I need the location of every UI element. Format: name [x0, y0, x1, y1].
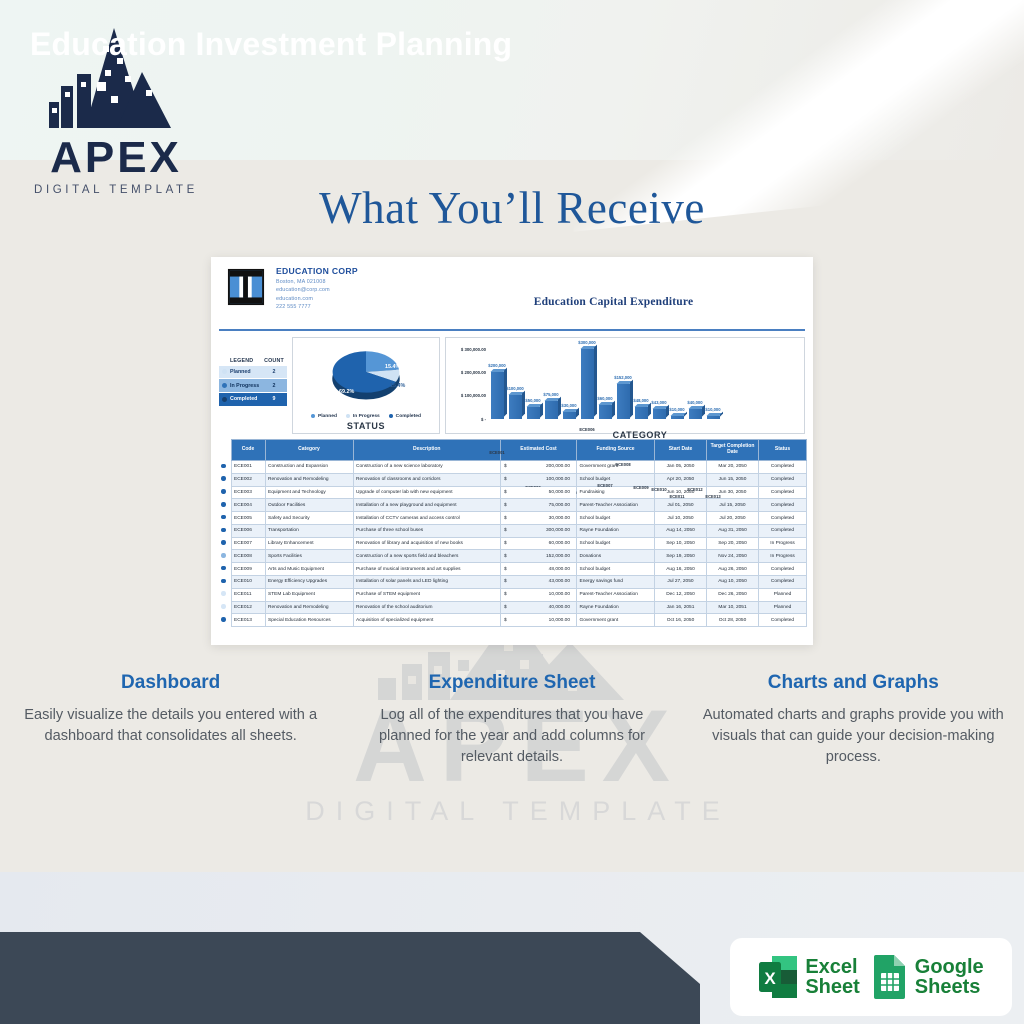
pie-value-planned: 15.4% [385, 364, 400, 370]
cell-cost: $43,000.00 [501, 576, 577, 589]
bar-value-label: $200,000 [479, 363, 515, 368]
cell-status: Completed [759, 524, 807, 537]
cell-code: ECE006 [231, 524, 265, 537]
legend-count-planned: 2 [264, 369, 284, 375]
cell-cost: $100,000.00 [501, 473, 577, 486]
feature-desc-dashboard: Easily visualize the details you entered… [18, 705, 323, 747]
cell-start-date: Apr 20, 2050 [655, 473, 707, 486]
cell-funding: Parent-Teacher Association [577, 588, 655, 601]
cell-target-date: Oct 28, 2050 [707, 614, 759, 627]
legend-count-in-progress: 2 [264, 383, 284, 389]
row-status-dot [217, 461, 231, 474]
legend-header-count: COUNT [264, 358, 284, 364]
feature-desc-charts: Automated charts and graphs provide you … [701, 705, 1006, 768]
table-row[interactable]: ECE009Arts and Music EquipmentPurchase o… [217, 563, 807, 576]
cell-start-date: Jan 16, 2051 [655, 601, 707, 614]
row-status-dot [217, 524, 231, 537]
table-header-category: Category [265, 439, 353, 461]
pie-canvas: 15.4% 15.4% 69.2% [293, 342, 439, 413]
excel-icon: X [758, 954, 798, 1000]
legend-label-in-progress: In Progress [227, 383, 264, 389]
badge-excel: X Excel Sheet [758, 954, 859, 1000]
pie-legend-label-completed: Completed [396, 414, 421, 419]
row-status-dot [217, 537, 231, 550]
table-header-start: Start Date [655, 439, 707, 461]
cell-category: Renovation and Remodeling [265, 601, 353, 614]
bar-category-label: ECE012 [684, 487, 706, 492]
cell-category: Equipment and Technology [265, 486, 353, 499]
cell-category: Safety and Security [265, 512, 353, 525]
bar-value-label: $10,000 [695, 407, 731, 412]
bar-category-label: ECE008 [612, 462, 634, 467]
y-axis-tick: $ 200,000.00 [450, 370, 486, 375]
bar-face [635, 407, 648, 418]
cell-status: Completed [759, 576, 807, 589]
spreadsheet-preview: EDUCATION CORP Boston, MA 021008 educati… [211, 257, 813, 645]
cell-funding: Energy savings fund [577, 576, 655, 589]
pie-legend-in-progress: In Progress [346, 414, 380, 419]
row-status-dot [217, 550, 231, 563]
legend-label-completed: Completed [227, 396, 264, 402]
bar-shape [563, 412, 576, 419]
cell-target-date: Aug 31, 2050 [707, 524, 759, 537]
cell-description: Installation of solar panels and LED lig… [353, 576, 501, 589]
pie-svg [320, 342, 412, 408]
cell-status: Completed [759, 473, 807, 486]
row-status-dot [217, 563, 231, 576]
cell-code: ECE012 [231, 601, 265, 614]
cell-funding: School budget [577, 512, 655, 525]
cell-description: Renovation of library and acquisition of… [353, 537, 501, 550]
cell-category: Renovation and Remodeling [265, 473, 353, 486]
cell-start-date: Aug 16, 2050 [655, 563, 707, 576]
cell-start-date: Oct 16, 2050 [655, 614, 707, 627]
bar-plot-area: $ 300,000.00$ 200,000.00$ 100,000.00$ -$… [488, 343, 798, 419]
bar-column[interactable]: $30,000ECE005 [560, 412, 578, 419]
cell-code: ECE007 [231, 537, 265, 550]
cell-cost: $200,000.00 [501, 461, 577, 474]
bar-category-label: ECE013 [702, 494, 724, 499]
cell-cost: $48,000.00 [501, 563, 577, 576]
format-badges: X Excel Sheet Google Sheets [730, 938, 1012, 1016]
bar-value-label: $152,000 [605, 375, 641, 380]
cell-status: Completed [759, 461, 807, 474]
cell-target-date: Sep 20, 2050 [707, 537, 759, 550]
bar-value-label: $43,000 [641, 400, 677, 405]
cell-target-date: Dec 26, 2050 [707, 588, 759, 601]
cell-cost: $75,000.00 [501, 499, 577, 512]
table-row[interactable]: ECE012Renovation and RemodelingRenovatio… [217, 601, 807, 614]
table-row[interactable]: ECE010Energy Efficiency UpgradesInstalla… [217, 576, 807, 589]
bar-shape [671, 416, 684, 418]
table-header-funding: Funding Source [577, 439, 655, 461]
cell-description: Acquisition of specialized equipment [353, 614, 501, 627]
cell-code: ECE001 [231, 461, 265, 474]
cell-code: ECE009 [231, 563, 265, 576]
cell-category: Special Education Resources [265, 614, 353, 627]
cell-target-date: Aug 26, 2050 [707, 563, 759, 576]
bar-column[interactable]: $10,000ECE013 [704, 416, 722, 418]
cell-start-date: Jul 01, 2050 [655, 499, 707, 512]
legend-header-row: LEGEND COUNT [219, 356, 287, 366]
cell-start-date: Sep 19, 2050 [655, 550, 707, 563]
pie-legend-completed: Completed [389, 414, 421, 419]
cell-category: Outdoor Facilities [265, 499, 353, 512]
table-header: Code Category Description Estimated Cost… [217, 439, 807, 461]
company-website: education.com [276, 296, 426, 302]
expenditure-table-wrap: Code Category Description Estimated Cost… [211, 439, 813, 634]
cell-target-date: Mar 10, 2051 [707, 601, 759, 614]
bar-category-label: ECE007 [594, 483, 616, 488]
table-row[interactable]: ECE007Library EnhancementRenovation of l… [217, 537, 807, 550]
pie-legend-label-planned: Planned [318, 414, 337, 419]
bar-shape [581, 349, 594, 418]
cell-description: Installation of a new playground and equ… [353, 499, 501, 512]
cell-status: Completed [759, 614, 807, 627]
cell-start-date: Jan 05, 2050 [655, 461, 707, 474]
cell-cost: $152,000.00 [501, 550, 577, 563]
cell-funding: Donations [577, 550, 655, 563]
cell-code: ECE002 [231, 473, 265, 486]
bar-category-label: ECE011 [666, 494, 688, 499]
legend-item-completed: Completed 9 [219, 393, 287, 406]
bar-category-label: ECE006 [576, 427, 598, 432]
badge-label-google-sheets: Google Sheets [915, 957, 984, 998]
bar-face [563, 412, 576, 419]
cell-code: ECE013 [231, 614, 265, 627]
bar-shape [635, 407, 648, 418]
cell-status: Completed [759, 563, 807, 576]
cell-description: Construction of a new science laboratory [353, 461, 501, 474]
legend-item-planned: Planned 2 [219, 366, 287, 379]
cell-start-date: Jul 10, 2050 [655, 512, 707, 525]
cell-description: Installation of CCTV cameras and access … [353, 512, 501, 525]
cell-start-date: Aug 14, 2050 [655, 524, 707, 537]
pie-axis-title: STATUS [293, 421, 439, 431]
row-status-dot [217, 614, 231, 627]
sheet-header: EDUCATION CORP Boston, MA 021008 educati… [211, 257, 813, 329]
bar-shape [491, 372, 504, 418]
feature-charts-and-graphs: Charts and Graphs Automated charts and g… [683, 672, 1024, 768]
bar-value-label: $75,000 [533, 392, 569, 397]
company-address: Boston, MA 021008 [276, 279, 426, 285]
table-row[interactable]: ECE008Sports FacilitiesConstruction of a… [217, 550, 807, 563]
table-header-row: Code Category Description Estimated Cost… [217, 439, 807, 461]
feature-title-expenditure: Expenditure Sheet [359, 672, 664, 694]
pie-value-in-progress: 15.4% [390, 383, 405, 389]
badge-google-sheets: Google Sheets [872, 954, 984, 1000]
cell-status: Planned [759, 588, 807, 601]
pie-legend-dot-in-progress [346, 414, 350, 418]
table-row[interactable]: ECE005Safety and SecurityInstallation of… [217, 512, 807, 525]
cell-category: Construction and Expansion [265, 461, 353, 474]
cell-target-date: Jun 15, 2050 [707, 473, 759, 486]
pie-legend-dot-completed [389, 414, 393, 418]
table-header-target: Target Completion Date [707, 439, 759, 461]
feature-expenditure-sheet: Expenditure Sheet Log all of the expendi… [341, 672, 682, 768]
svg-text:X: X [765, 969, 777, 988]
bar-axis-title: CATEGORY [480, 430, 800, 440]
badge-excel-line2: Sheet [805, 977, 859, 997]
brand-name: APEX [26, 136, 206, 180]
category-bar-chart: $ 300,000.00$ 200,000.00$ 100,000.00$ -$… [445, 337, 805, 434]
cell-start-date: Sep 10, 2050 [655, 537, 707, 550]
cell-code: ECE008 [231, 550, 265, 563]
cell-cost: $10,000.00 [501, 588, 577, 601]
table-header-mark [217, 439, 231, 461]
cell-category: Energy Efficiency Upgrades [265, 576, 353, 589]
cell-status: Planned [759, 601, 807, 614]
cell-cost: $50,000.00 [501, 486, 577, 499]
feature-columns: Dashboard Easily visualize the details y… [0, 672, 1024, 768]
cell-cost: $60,000.00 [501, 537, 577, 550]
bottom-banner [0, 932, 700, 1024]
cell-category: Transportation [265, 524, 353, 537]
cell-target-date: Nov 24, 2050 [707, 550, 759, 563]
cell-target-date: Jul 15, 2050 [707, 499, 759, 512]
bar-face [671, 416, 684, 418]
company-email: education@corp.com [276, 287, 426, 293]
table-row[interactable]: ECE013Special Education ResourcesAcquisi… [217, 614, 807, 627]
cell-cost: $300,000.00 [501, 524, 577, 537]
row-status-dot [217, 576, 231, 589]
y-axis-tick: $ - [450, 417, 486, 422]
row-status-dot [217, 499, 231, 512]
dashboard-row: LEGEND COUNT Planned 2 In Progress 2 Com… [211, 331, 813, 439]
table-body: ECE001Construction and ExpansionConstruc… [217, 461, 807, 627]
sheet-title: Education Capital Expenditure [426, 296, 801, 308]
feature-title-dashboard: Dashboard [18, 672, 323, 694]
legend-count-completed: 9 [264, 396, 284, 402]
bar-column[interactable]: $50,000ECE003 [524, 407, 542, 419]
page-title: What You’ll Receive [0, 182, 1024, 234]
pie-legend: Planned In Progress Completed [293, 414, 439, 419]
expenditure-table: Code Category Description Estimated Cost… [217, 439, 807, 628]
row-status-dot [217, 588, 231, 601]
bar-face [599, 405, 612, 419]
cell-code: ECE011 [231, 588, 265, 601]
table-row[interactable]: ECE006TransportationPurchase of three sc… [217, 524, 807, 537]
cell-category: STEM Lab Equipment [265, 588, 353, 601]
y-axis-tick: $ 300,000.00 [450, 347, 486, 352]
cell-cost: $40,000.00 [501, 601, 577, 614]
bar-face [527, 407, 540, 419]
legend-panel: LEGEND COUNT Planned 2 In Progress 2 Com… [219, 337, 287, 434]
row-status-dot [217, 486, 231, 499]
cell-target-date: Aug 10, 2050 [707, 576, 759, 589]
table-row[interactable]: ECE001Construction and ExpansionConstruc… [217, 461, 807, 474]
bar-face [491, 372, 504, 418]
bar-shape [707, 416, 720, 418]
cell-category: Sports Facilities [265, 550, 353, 563]
cell-start-date: Dec 12, 2050 [655, 588, 707, 601]
table-header-status: Status [759, 439, 807, 461]
cell-code: ECE005 [231, 512, 265, 525]
feature-title-charts: Charts and Graphs [701, 672, 1006, 694]
feature-desc-expenditure: Log all of the expenditures that you hav… [359, 705, 664, 768]
banner-title: Education Investment Planning [30, 26, 512, 63]
cell-funding: School budget [577, 537, 655, 550]
pie-legend-dot-planned [311, 414, 315, 418]
badge-label-excel: Excel Sheet [805, 957, 859, 998]
cell-description: Purchase of STEM equipment [353, 588, 501, 601]
table-header-description: Description [353, 439, 501, 461]
cell-target-date: Jul 20, 2050 [707, 512, 759, 525]
cell-description: Construction of a new sports field and b… [353, 550, 501, 563]
google-sheets-icon [872, 954, 908, 1000]
cell-target-date: Mar 20, 2050 [707, 461, 759, 474]
company-name: EDUCATION CORP [276, 266, 426, 276]
row-status-dot [217, 473, 231, 486]
pie-legend-planned: Planned [311, 414, 337, 419]
company-phone: 222 555 7777 [276, 304, 426, 310]
row-status-dot [217, 601, 231, 614]
legend-item-in-progress: In Progress 2 [219, 379, 287, 392]
bar-value-label: $100,000 [497, 386, 533, 391]
bar-column[interactable]: $48,000ECE009 [632, 407, 650, 418]
bar-column[interactable]: $10,000ECE011 [668, 416, 686, 418]
cell-funding: Parent-Teacher Association [577, 499, 655, 512]
cell-code: ECE004 [231, 499, 265, 512]
cell-status: Completed [759, 499, 807, 512]
cell-status: In Progress [759, 550, 807, 563]
cell-status: In Progress [759, 537, 807, 550]
bar-column[interactable]: $200,000ECE001 [488, 372, 506, 418]
cell-description: Renovation of classrooms and corridors [353, 473, 501, 486]
status-pie-chart: 15.4% 15.4% 69.2% Planned In Progress Co… [292, 337, 440, 434]
legend-header-label: LEGEND [222, 358, 264, 364]
cell-cost: $30,000.00 [501, 512, 577, 525]
cell-code: ECE003 [231, 486, 265, 499]
cell-description: Upgrade of computer lab with new equipme… [353, 486, 501, 499]
cell-funding: Rayne Foundation [577, 524, 655, 537]
cell-description: Renovation of the school auditorium [353, 601, 501, 614]
bar-shape [527, 407, 540, 419]
building-columns-icon [227, 268, 265, 306]
sheet-company-block: EDUCATION CORP Boston, MA 021008 educati… [276, 266, 426, 310]
cell-description: Purchase of musical instruments and art … [353, 563, 501, 576]
cell-funding: Government grant [577, 614, 655, 627]
cell-description: Purchase of three school buses [353, 524, 501, 537]
feature-dashboard: Dashboard Easily visualize the details y… [0, 672, 341, 768]
bar-category-label: ECE010 [648, 487, 670, 492]
bar-value-label: $40,000 [677, 400, 713, 405]
bar-category-label: ECE001 [486, 450, 508, 455]
bar-face [581, 349, 594, 418]
cell-category: Arts and Music Equipment [265, 563, 353, 576]
cell-status: Completed [759, 512, 807, 525]
bar-value-label: $300,000 [569, 340, 605, 345]
table-row[interactable]: ECE011STEM Lab EquipmentPurchase of STEM… [217, 588, 807, 601]
bar-face [707, 416, 720, 418]
cell-cost: $10,000.00 [501, 614, 577, 627]
cell-funding: Rayne Foundation [577, 601, 655, 614]
y-axis-tick: $ 100,000.00 [450, 393, 486, 398]
pie-legend-label-in-progress: In Progress [353, 414, 380, 419]
table-header-code: Code [231, 439, 265, 461]
row-status-dot [217, 512, 231, 525]
badge-gsheets-line1: Google [915, 957, 984, 977]
badge-excel-line1: Excel [805, 957, 859, 977]
cell-code: ECE010 [231, 576, 265, 589]
cell-funding: School budget [577, 563, 655, 576]
table-header-cost: Estimated Cost [501, 439, 577, 461]
table-row[interactable]: ECE002Renovation and RemodelingRenovatio… [217, 473, 807, 486]
cell-status: Completed [759, 486, 807, 499]
bar-column[interactable]: $300,000ECE006 [578, 349, 596, 418]
table-row[interactable]: ECE004Outdoor FacilitiesInstallation of … [217, 499, 807, 512]
cell-start-date: Jul 27, 2050 [655, 576, 707, 589]
legend-label-planned: Planned [227, 369, 264, 375]
bar-column[interactable]: $60,000ECE007 [596, 405, 614, 419]
badge-gsheets-line2: Sheets [915, 977, 984, 997]
cell-category: Library Enhancement [265, 537, 353, 550]
bar-shape [599, 405, 612, 419]
pie-value-completed: 69.2% [339, 389, 354, 395]
